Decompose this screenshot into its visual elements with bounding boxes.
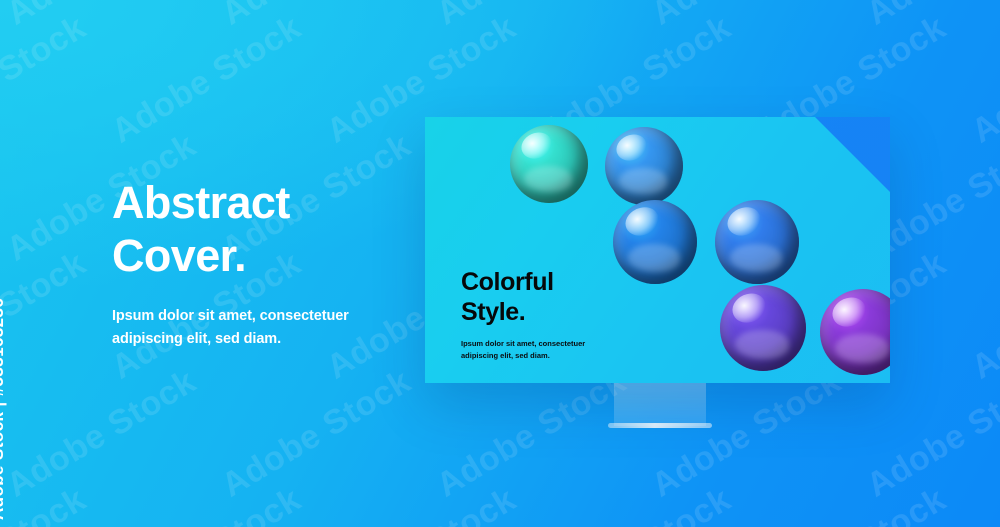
monitor-stand-base: [608, 423, 712, 428]
screen-subtitle: Ipsum dolor sit amet, consectetuer adipi…: [461, 338, 585, 362]
left-copy-block: Abstract Cover. Ipsum dolor sit amet, co…: [112, 176, 412, 350]
page-title: Abstract Cover.: [112, 176, 412, 282]
sphere-blue-right-inner-blob: [730, 244, 782, 273]
sphere-purple-left-inner-blob: [735, 330, 788, 359]
monitor-screen: Colorful Style. Ipsum dolor sit amet, co…: [425, 117, 890, 383]
sphere-blue-top: [605, 127, 683, 205]
sphere-blue-mid-inner-blob: [628, 244, 680, 273]
monitor-stand-neck: [614, 382, 706, 426]
screen-subtitle-line-2: adipiscing elit, sed diam.: [461, 350, 585, 362]
sphere-teal-inner-blob: [524, 166, 572, 193]
screen-title-line-1: Colorful: [461, 267, 585, 297]
sphere-blue-top-inner-blob: [619, 168, 667, 195]
screen-copy-block: Colorful Style. Ipsum dolor sit amet, co…: [461, 267, 585, 362]
page-title-line-1: Abstract: [112, 176, 412, 229]
sphere-purple-right-inner-blob: [835, 334, 888, 363]
sphere-purple-left: [720, 285, 806, 371]
screen-title-line-2: Style.: [461, 297, 585, 327]
sphere-teal: [510, 125, 588, 203]
page-subtitle-line-1: Ipsum dolor sit amet, consectetuer: [112, 305, 412, 327]
screen-subtitle-line-1: Ipsum dolor sit amet, consectetuer: [461, 338, 585, 350]
sphere-blue-mid: [613, 200, 697, 284]
page-title-line-2: Cover.: [112, 229, 412, 282]
sphere-blue-right: [715, 200, 799, 284]
page-subtitle-line-2: adipiscing elit, sed diam.: [112, 328, 412, 350]
screen-title: Colorful Style.: [461, 267, 585, 327]
stock-credit-label: Adobe Stock | #533163236: [0, 298, 8, 520]
page-subtitle: Ipsum dolor sit amet, consectetuer adipi…: [112, 305, 412, 350]
